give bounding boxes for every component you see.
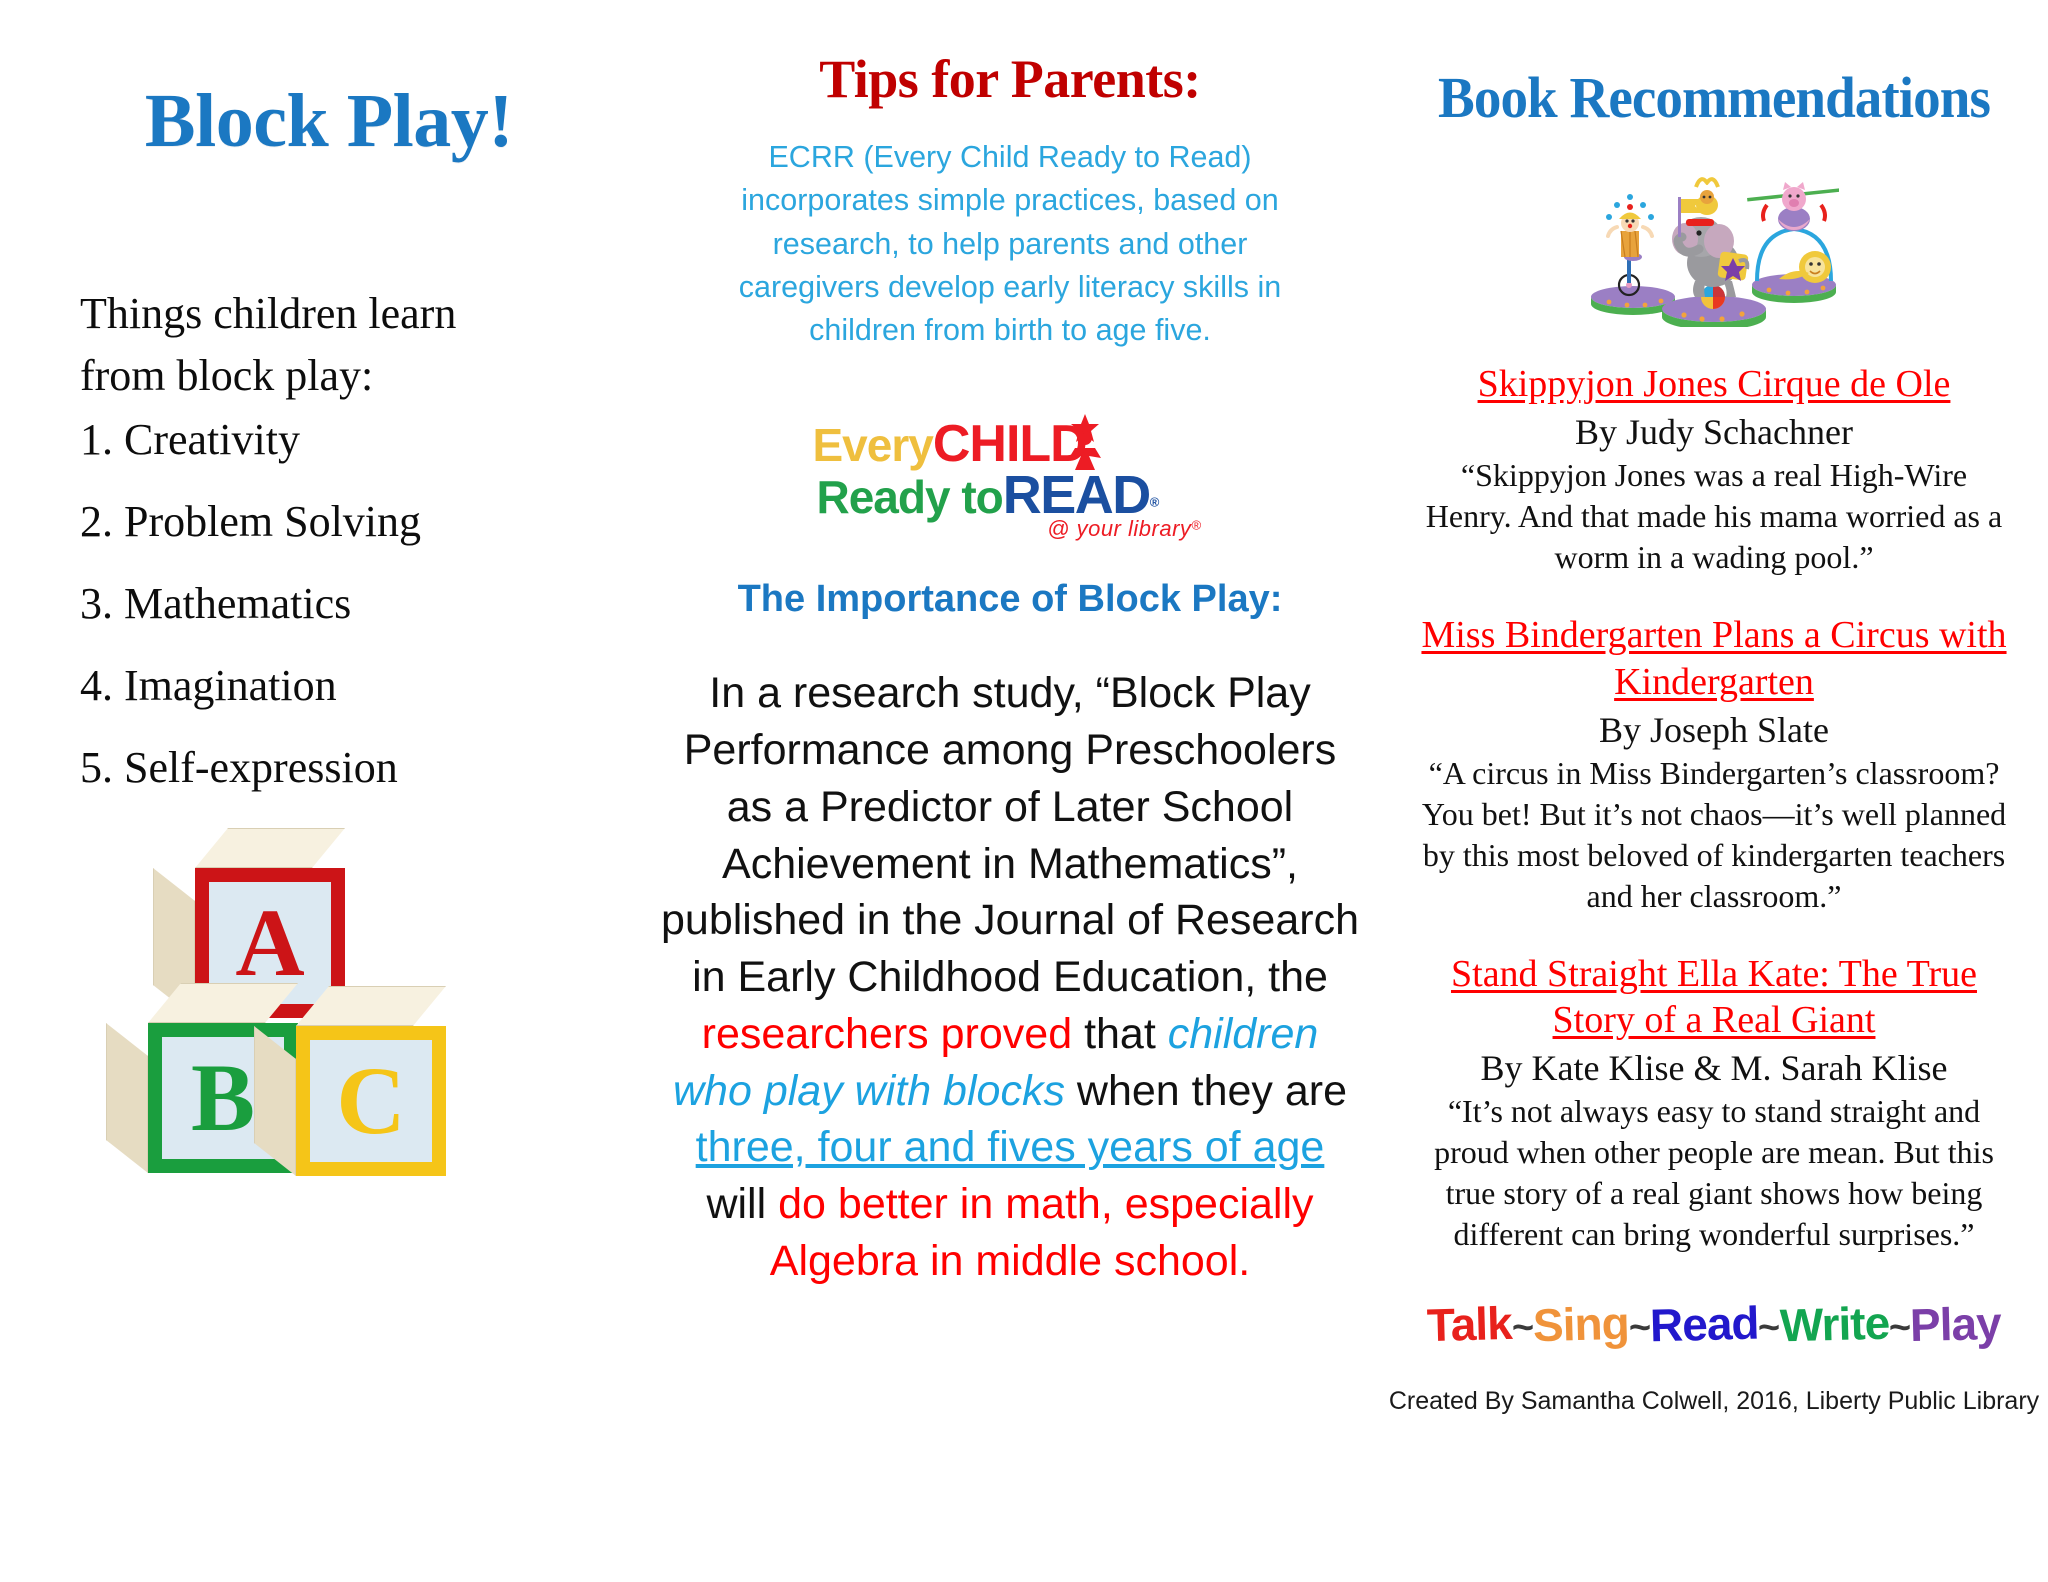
brochure-page: Block Play! Things children learn from b…	[0, 0, 2048, 1582]
tips-heading: Tips for Parents:	[654, 48, 1366, 110]
book-title[interactable]: Stand Straight Ella Kate: The True Story…	[1414, 951, 2014, 1044]
left-panel: Block Play! Things children learn from b…	[0, 0, 640, 1582]
book-author: By Judy Schachner	[1388, 411, 2040, 453]
practice-separator: ~	[1758, 1307, 1780, 1351]
book-title[interactable]: Skippyjon Jones Cirque de Ole	[1414, 361, 2014, 407]
practice-talk: Talk	[1427, 1296, 1513, 1352]
book-title[interactable]: Miss Bindergarten Plans a Circus with Ki…	[1414, 612, 2014, 705]
book-entry: Stand Straight Ella Kate: The True Story…	[1388, 951, 2040, 1256]
circus-image	[1388, 157, 2040, 327]
book-entry: Skippyjon Jones Cirque de Ole By Judy Sc…	[1388, 361, 2040, 578]
book-quote: “It’s not always easy to stand straight …	[1414, 1091, 2014, 1255]
body-segment-red: do better in math, especially Algebra in…	[770, 1180, 1314, 1285]
body-segment: In a research study, “Block Play Perform…	[661, 669, 1359, 1001]
five-practices-banner: Talk~Sing~Read~Write~Play	[1388, 1297, 2040, 1351]
body-segment-red: researchers proved	[702, 1010, 1072, 1058]
ecrr-paragraph: ECRR (Every Child Ready to Read) incorpo…	[730, 136, 1290, 352]
practice-read: Read	[1649, 1296, 1759, 1353]
books-heading: Book Recommendations	[1404, 64, 2023, 131]
list-item: 3. Mathematics	[80, 582, 640, 626]
block-letter: C	[296, 1026, 446, 1176]
practice-separator: ~	[1628, 1307, 1650, 1351]
credit-line: Created By Samantha Colwell, 2016, Liber…	[1388, 1387, 2040, 1416]
page-title: Block Play!	[0, 78, 640, 165]
list-item: 4. Imagination	[80, 664, 640, 708]
abc-blocks-image: A B C	[100, 828, 640, 1178]
logo-tagline: @ your library	[1047, 516, 1191, 541]
list-item: 5. Self-expression	[80, 746, 640, 790]
ecrr-logo: EveryCHILD Ready toREAD® @ your library®	[654, 412, 1366, 542]
book-author: By Joseph Slate	[1388, 709, 2040, 751]
learn-heading: Things children learn from block play:	[80, 283, 550, 408]
body-segment: will	[706, 1180, 778, 1228]
middle-panel: Tips for Parents: ECRR (Every Child Read…	[640, 0, 1380, 1582]
practice-write: Write	[1779, 1296, 1890, 1353]
importance-heading: The Importance of Block Play:	[654, 578, 1366, 621]
body-segment-blue-underline: three, four and fives years of age	[696, 1123, 1325, 1171]
book-quote: “Skippyjon Jones was a real High-Wire He…	[1414, 455, 2014, 578]
practice-play: Play	[1909, 1296, 2001, 1352]
practice-separator: ~	[1511, 1307, 1533, 1351]
practice-separator: ~	[1888, 1307, 1910, 1351]
book-entry: Miss Bindergarten Plans a Circus with Ki…	[1388, 612, 2040, 917]
logo-word-ready-to: Ready to	[817, 471, 1003, 523]
logo-tagline-mark: ®	[1191, 518, 1201, 533]
book-author: By Kate Klise & M. Sarah Klise	[1388, 1047, 2040, 1089]
list-item: 2. Problem Solving	[80, 500, 640, 544]
practice-sing: Sing	[1532, 1296, 1629, 1352]
right-panel: Book Recommendations	[1380, 0, 2048, 1582]
learn-list: 1. Creativity 2. Problem Solving 3. Math…	[80, 418, 640, 790]
book-quote: “A circus in Miss Bindergarten’s classro…	[1414, 753, 2014, 917]
body-segment: when they are	[1065, 1067, 1347, 1115]
logo-registered-mark: ®	[1150, 495, 1158, 510]
circus-clipart-icon	[1589, 157, 1839, 327]
list-item: 1. Creativity	[80, 418, 640, 462]
body-segment: that	[1072, 1010, 1168, 1058]
importance-body: In a research study, “Block Play Perform…	[660, 665, 1360, 1289]
